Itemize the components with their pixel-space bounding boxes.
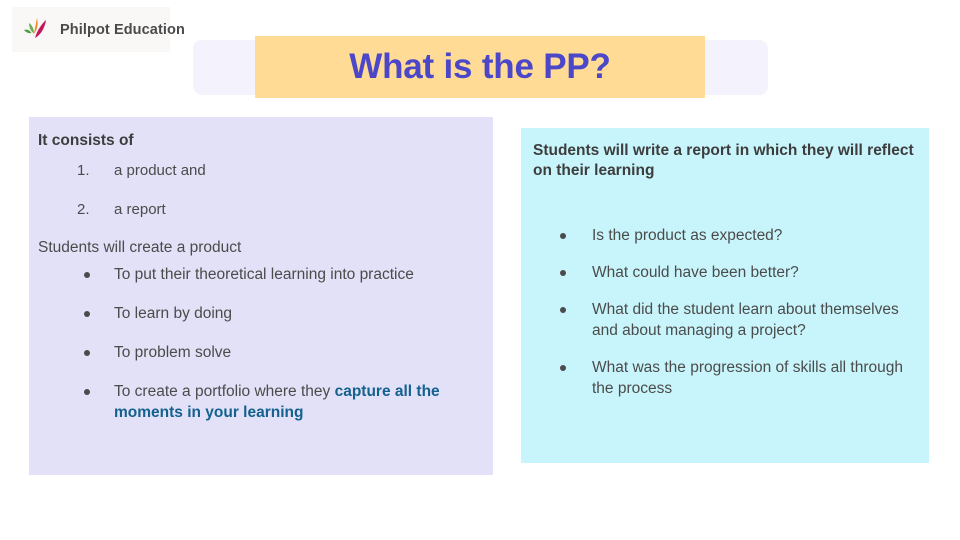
list-item-label: What could have been better? [592, 264, 799, 281]
list-item: To create a portfolio where they capture… [38, 382, 471, 424]
list-item-label: What was the progression of skills all t… [592, 359, 903, 397]
left-panel-numbered-list: 1. a product and 2. a report [38, 161, 471, 219]
list-item-label: To problem solve [114, 344, 231, 361]
bullet-dot-icon [84, 389, 90, 395]
list-item-label: Is the product as expected? [592, 227, 782, 244]
list-item: 2. a report [38, 200, 471, 220]
list-item-label: a product and [114, 162, 206, 179]
list-item: To put their theoretical learning into p… [38, 265, 471, 286]
bullet-dot-icon [84, 350, 90, 356]
list-item-label: To create a portfolio where they [114, 383, 335, 400]
right-panel-bullet-list: Is the product as expected? What could h… [533, 226, 915, 400]
list-item: To problem solve [38, 343, 471, 364]
left-content-panel: It consists of 1. a product and 2. a rep… [29, 117, 493, 475]
brand-name: Philpot Education [60, 22, 185, 38]
left-panel-subheading: Students will create a product [38, 238, 471, 259]
left-panel-bullet-list: To put their theoretical learning into p… [38, 265, 471, 424]
left-panel-heading: It consists of [38, 131, 471, 151]
bullet-dot-icon [560, 233, 566, 239]
bullet-dot-icon [84, 272, 90, 278]
right-panel-spacer [533, 182, 915, 226]
bullet-dot-icon [560, 365, 566, 371]
right-panel-heading: Students will write a report in which th… [533, 141, 915, 182]
brand-logo-panel: Philpot Education [12, 7, 170, 52]
list-item-label: What did the student learn about themsel… [592, 301, 899, 339]
bullet-dot-icon [560, 270, 566, 276]
page-title: What is the PP? [255, 36, 705, 98]
bullet-dot-icon [84, 311, 90, 317]
list-item: To learn by doing [38, 304, 471, 325]
list-marker: 2. [77, 200, 90, 220]
list-item-label: a report [114, 201, 166, 218]
list-item-label: To put their theoretical learning into p… [114, 266, 414, 283]
list-item: What could have been better? [533, 263, 915, 284]
bullet-dot-icon [560, 307, 566, 313]
list-item: What was the progression of skills all t… [533, 358, 915, 400]
list-item: 1. a product and [38, 161, 471, 181]
list-marker: 1. [77, 161, 90, 181]
leaf-petals-icon [22, 16, 52, 44]
right-content-panel: Students will write a report in which th… [521, 128, 929, 463]
list-item: Is the product as expected? [533, 226, 915, 247]
list-item-label: To learn by doing [114, 305, 232, 322]
list-item: What did the student learn about themsel… [533, 300, 915, 342]
